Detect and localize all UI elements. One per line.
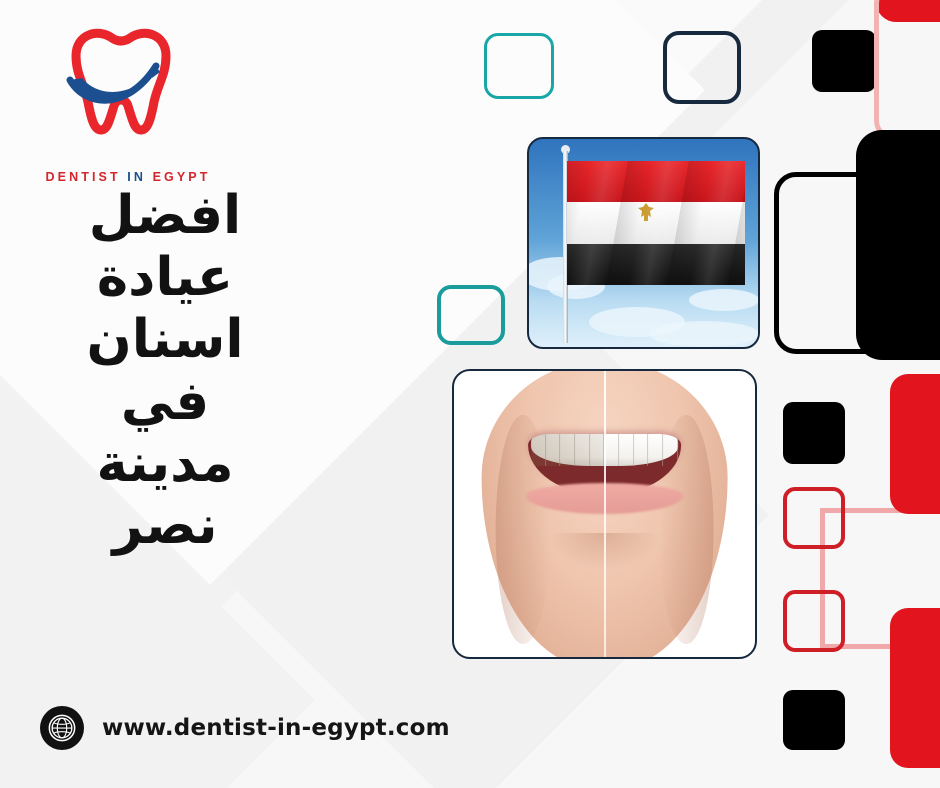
headline-line-3: اسنان <box>40 309 290 371</box>
headline: افضل عيادة اسنان في مدينة نصر <box>40 185 290 557</box>
red-outline-square-1 <box>783 487 845 549</box>
black-square-top <box>812 30 876 92</box>
headline-line-1: افضل <box>40 185 290 247</box>
red-rounded-right-2 <box>890 608 940 768</box>
tooth-logo-icon <box>56 22 186 137</box>
teeth-before-shading <box>531 434 604 466</box>
flag-wave-shading <box>567 161 745 285</box>
headline-line-4: في <box>40 371 290 433</box>
brand-word-dentist: DENTIST <box>46 170 121 184</box>
tooth <box>619 434 634 466</box>
brand-wordmark: DENTIST IN EGYPT <box>40 170 216 184</box>
red-rounded-right-1 <box>890 374 940 514</box>
black-square-bottom-right <box>783 690 845 750</box>
website-url[interactable]: www.dentist-in-egypt.com <box>102 715 450 741</box>
headline-line-2: عيادة <box>40 247 290 309</box>
egypt-flag-photo <box>527 137 760 349</box>
teal-outline-square-mid <box>437 285 505 345</box>
cloud-shape <box>649 321 759 347</box>
black-outline-square-right <box>774 172 940 354</box>
teal-outline-square-top <box>484 33 554 99</box>
headline-line-6: نصر <box>40 495 290 557</box>
pink-outline-square-right <box>874 0 940 142</box>
tooth <box>649 434 664 466</box>
flag-banner <box>567 161 745 285</box>
teeth-whitening-before-after-photo <box>452 369 757 659</box>
brand-word-egypt: EGYPT <box>153 170 211 184</box>
tooth <box>604 434 619 466</box>
cloud-shape <box>689 289 759 311</box>
tooth <box>663 434 678 466</box>
brand-logo: DENTIST IN EGYPT <box>38 22 218 172</box>
brand-word-in: IN <box>127 170 146 184</box>
black-square-mid-right <box>783 402 845 464</box>
promo-poster: DENTIST IN EGYPT افضل عيادة اسنان في مدي… <box>0 0 940 788</box>
footer: www.dentist-in-egypt.com <box>40 706 450 750</box>
tooth <box>634 434 649 466</box>
red-outline-square-2 <box>783 590 845 652</box>
navy-outline-square-top <box>663 31 741 104</box>
globe-icon <box>40 706 84 750</box>
before-after-divider <box>604 371 606 657</box>
headline-line-5: مدينة <box>40 433 290 495</box>
